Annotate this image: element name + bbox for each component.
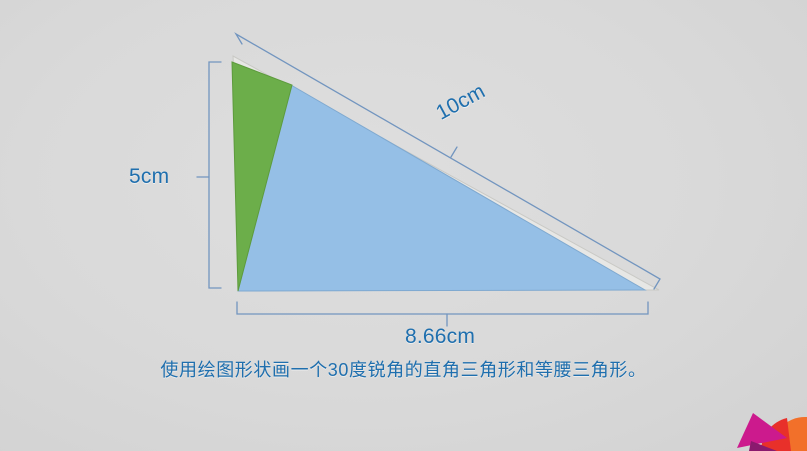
- pinwheel-logo: [731, 391, 807, 451]
- dimension-label-base: 8.66cm: [405, 325, 475, 349]
- triangle-construction-diagram: [0, 0, 807, 451]
- slide-canvas: 5cm 8.66cm 10cm 使用绘图形状画一个30度锐角的直角三角形和等腰三…: [0, 0, 807, 451]
- dimension-label-height: 5cm: [129, 165, 169, 189]
- slide-caption: 使用绘图形状画一个30度锐角的直角三角形和等腰三角形。: [0, 356, 807, 382]
- vertical-dimension-bracket: [197, 62, 221, 288]
- horizontal-dimension-bracket: [237, 302, 648, 326]
